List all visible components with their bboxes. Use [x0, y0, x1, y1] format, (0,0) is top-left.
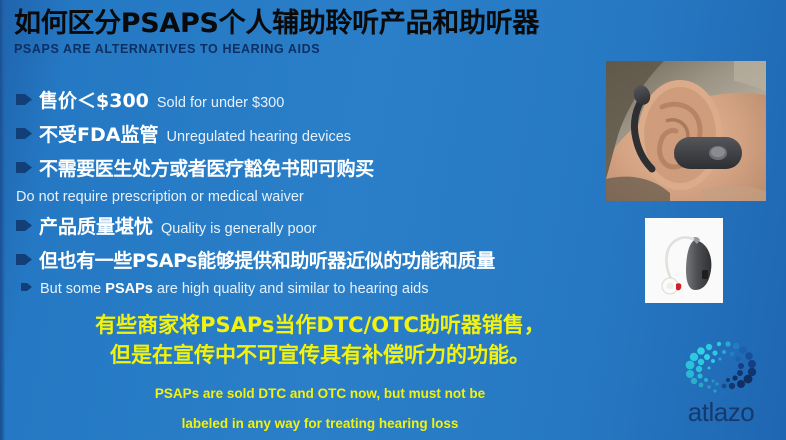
list-item-sublabel-en: But some PSAPs are high quality and simi…	[40, 276, 429, 302]
arrow-marker-icon	[16, 220, 32, 231]
sublabel-after: are high quality and similar to hearing …	[153, 281, 429, 297]
atlazo-spiral-dots-icon	[679, 341, 763, 400]
list-item-sublabel-en: Do not require prescription or medical w…	[16, 184, 304, 210]
arrow-marker-icon	[16, 128, 32, 139]
arrow-marker-icon	[16, 162, 32, 173]
list-item-label-en: Quality is generally poor	[161, 214, 317, 244]
list-item: 售价＜$300 Sold for under $300	[16, 86, 606, 118]
slide-canvas: 如何区分PSAPS个人辅助聆听产品和助听器 PSAPS ARE ALTERNAT…	[0, 0, 786, 440]
arrow-marker-icon	[16, 94, 32, 105]
list-item-subline: Do not require prescription or medical w…	[16, 184, 606, 210]
arrow-marker-icon	[16, 254, 32, 265]
sublabel-before: But some	[40, 281, 105, 297]
callout-line-en-1: PSAPs are sold DTC and OTC now, but must…	[0, 381, 640, 407]
list-item-label-cn: 售价＜$300	[39, 86, 149, 116]
callout-block: 有些商家将PSAPs当作DTC/OTC助听器销售， 但是在宣传中不可宣传具有补偿…	[0, 310, 640, 437]
list-item-label-cn: 产品质量堪忧	[39, 212, 153, 242]
bullet-list: 售价＜$300 Sold for under $300 不受FDA监管 Unre…	[16, 86, 606, 304]
arrow-marker-small-icon	[21, 283, 32, 291]
atlazo-wordmark: atlazo	[665, 397, 777, 427]
list-item-label-cn: 不需要医生处方或者医疗豁免书即可购买	[39, 154, 374, 184]
behind-the-ear-hearing-aid-photo	[645, 218, 723, 303]
list-item-label-en: Unregulated hearing devices	[166, 122, 351, 152]
list-item-label-cn: 不受FDA监管	[39, 120, 158, 150]
ear-with-hearing-device-photo	[606, 61, 766, 201]
callout-line-cn-1: 有些商家将PSAPs当作DTC/OTC助听器销售，	[0, 310, 640, 340]
atlazo-logo: atlazo	[665, 341, 777, 435]
list-item: 不需要医生处方或者医疗豁免书即可购买	[16, 154, 606, 184]
page-title: 如何区分PSAPS个人辅助聆听产品和助听器	[14, 8, 614, 40]
list-item: 但也有一些PSAPs能够提供和助听器近似的功能和质量	[16, 246, 606, 276]
sublabel-bold: PSAPs	[105, 281, 153, 297]
list-item-subline: But some PSAPs are high quality and simi…	[16, 276, 606, 302]
list-item-label-cn: 但也有一些PSAPs能够提供和助听器近似的功能和质量	[39, 246, 495, 276]
callout-line-en-2: labeled in any way for treating hearing …	[0, 411, 640, 437]
list-item: 不受FDA监管 Unregulated hearing devices	[16, 120, 606, 152]
page-subtitle: PSAPS ARE ALTERNATIVES TO HEARING AIDS	[14, 42, 614, 57]
title-block: 如何区分PSAPS个人辅助聆听产品和助听器 PSAPS ARE ALTERNAT…	[14, 8, 614, 57]
callout-line-cn-2: 但是在宣传中不可宣传具有补偿听力的功能。	[0, 340, 640, 370]
list-item-label-en: Sold for under $300	[157, 88, 284, 118]
list-item: 产品质量堪忧 Quality is generally poor	[16, 212, 606, 244]
